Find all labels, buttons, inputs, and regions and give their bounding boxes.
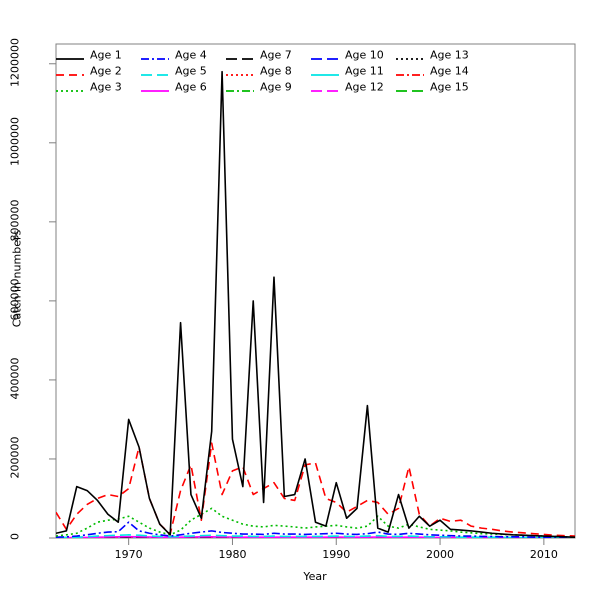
- legend-item: Age 8: [226, 63, 292, 79]
- legend-label: Age 13: [430, 49, 469, 62]
- legend-line-key-icon: [141, 83, 169, 93]
- legend-label: Age 15: [430, 81, 469, 94]
- legend-label: Age 11: [345, 65, 384, 78]
- x-tick-label: 2000: [420, 548, 460, 561]
- data-series-group: [56, 72, 575, 538]
- legend-label: Age 5: [175, 65, 207, 78]
- x-axis-title: Year: [255, 570, 375, 583]
- legend-line-key-icon: [226, 51, 254, 61]
- y-tick-label: 1200000: [9, 32, 22, 92]
- legend-item: Age 7: [226, 47, 292, 63]
- chart-figure: Catch in numbers Year 197019801990200020…: [0, 0, 600, 600]
- legend-item: Age 12: [311, 79, 384, 95]
- legend-item: Age 13: [396, 47, 469, 63]
- legend-item: Age 15: [396, 79, 469, 95]
- legend-line-key-icon: [141, 51, 169, 61]
- legend-line-key-icon: [56, 51, 84, 61]
- legend-label: Age 1: [90, 49, 122, 62]
- y-tick-label: 1000000: [9, 111, 22, 171]
- legend-label: Age 14: [430, 65, 469, 78]
- legend-line-key-icon: [226, 83, 254, 93]
- legend-line-key-icon: [311, 51, 339, 61]
- x-tick-label: 1990: [316, 548, 356, 561]
- legend-label: Age 12: [345, 81, 384, 94]
- legend-line-key-icon: [396, 67, 424, 77]
- legend-line-key-icon: [56, 67, 84, 77]
- legend-line-key-icon: [311, 67, 339, 77]
- legend-item: Age 1: [56, 47, 122, 63]
- legend-line-key-icon: [396, 83, 424, 93]
- legend-label: Age 4: [175, 49, 207, 62]
- y-tick-label: 600000: [9, 269, 22, 329]
- legend-item: Age 9: [226, 79, 292, 95]
- legend-line-key-icon: [56, 83, 84, 93]
- y-tick-label: 0: [9, 507, 22, 567]
- legend-item: Age 2: [56, 63, 122, 79]
- legend-label: Age 10: [345, 49, 384, 62]
- legend-item: Age 14: [396, 63, 469, 79]
- legend-label: Age 6: [175, 81, 207, 94]
- y-tick-label: 400000: [9, 348, 22, 408]
- legend-item: Age 4: [141, 47, 207, 63]
- legend-item: Age 5: [141, 63, 207, 79]
- y-tick-label: 200000: [9, 427, 22, 487]
- legend-label: Age 2: [90, 65, 122, 78]
- legend-label: Age 9: [260, 81, 292, 94]
- legend-item: Age 3: [56, 79, 122, 95]
- legend-label: Age 8: [260, 65, 292, 78]
- y-tick-label: 800000: [9, 190, 22, 250]
- legend-line-key-icon: [226, 67, 254, 77]
- legend-item: Age 6: [141, 79, 207, 95]
- legend-label: Age 3: [90, 81, 122, 94]
- x-tick-label: 1970: [109, 548, 149, 561]
- legend-item: Age 10: [311, 47, 384, 63]
- x-tick-label: 2010: [524, 548, 564, 561]
- legend-line-key-icon: [311, 83, 339, 93]
- legend-label: Age 7: [260, 49, 292, 62]
- legend-line-key-icon: [141, 67, 169, 77]
- chart-legend: Age 1Age 2Age 3Age 4Age 5Age 6Age 7Age 8…: [56, 45, 404, 93]
- legend-line-key-icon: [396, 51, 424, 61]
- legend-item: Age 11: [311, 63, 384, 79]
- x-tick-label: 1980: [212, 548, 252, 561]
